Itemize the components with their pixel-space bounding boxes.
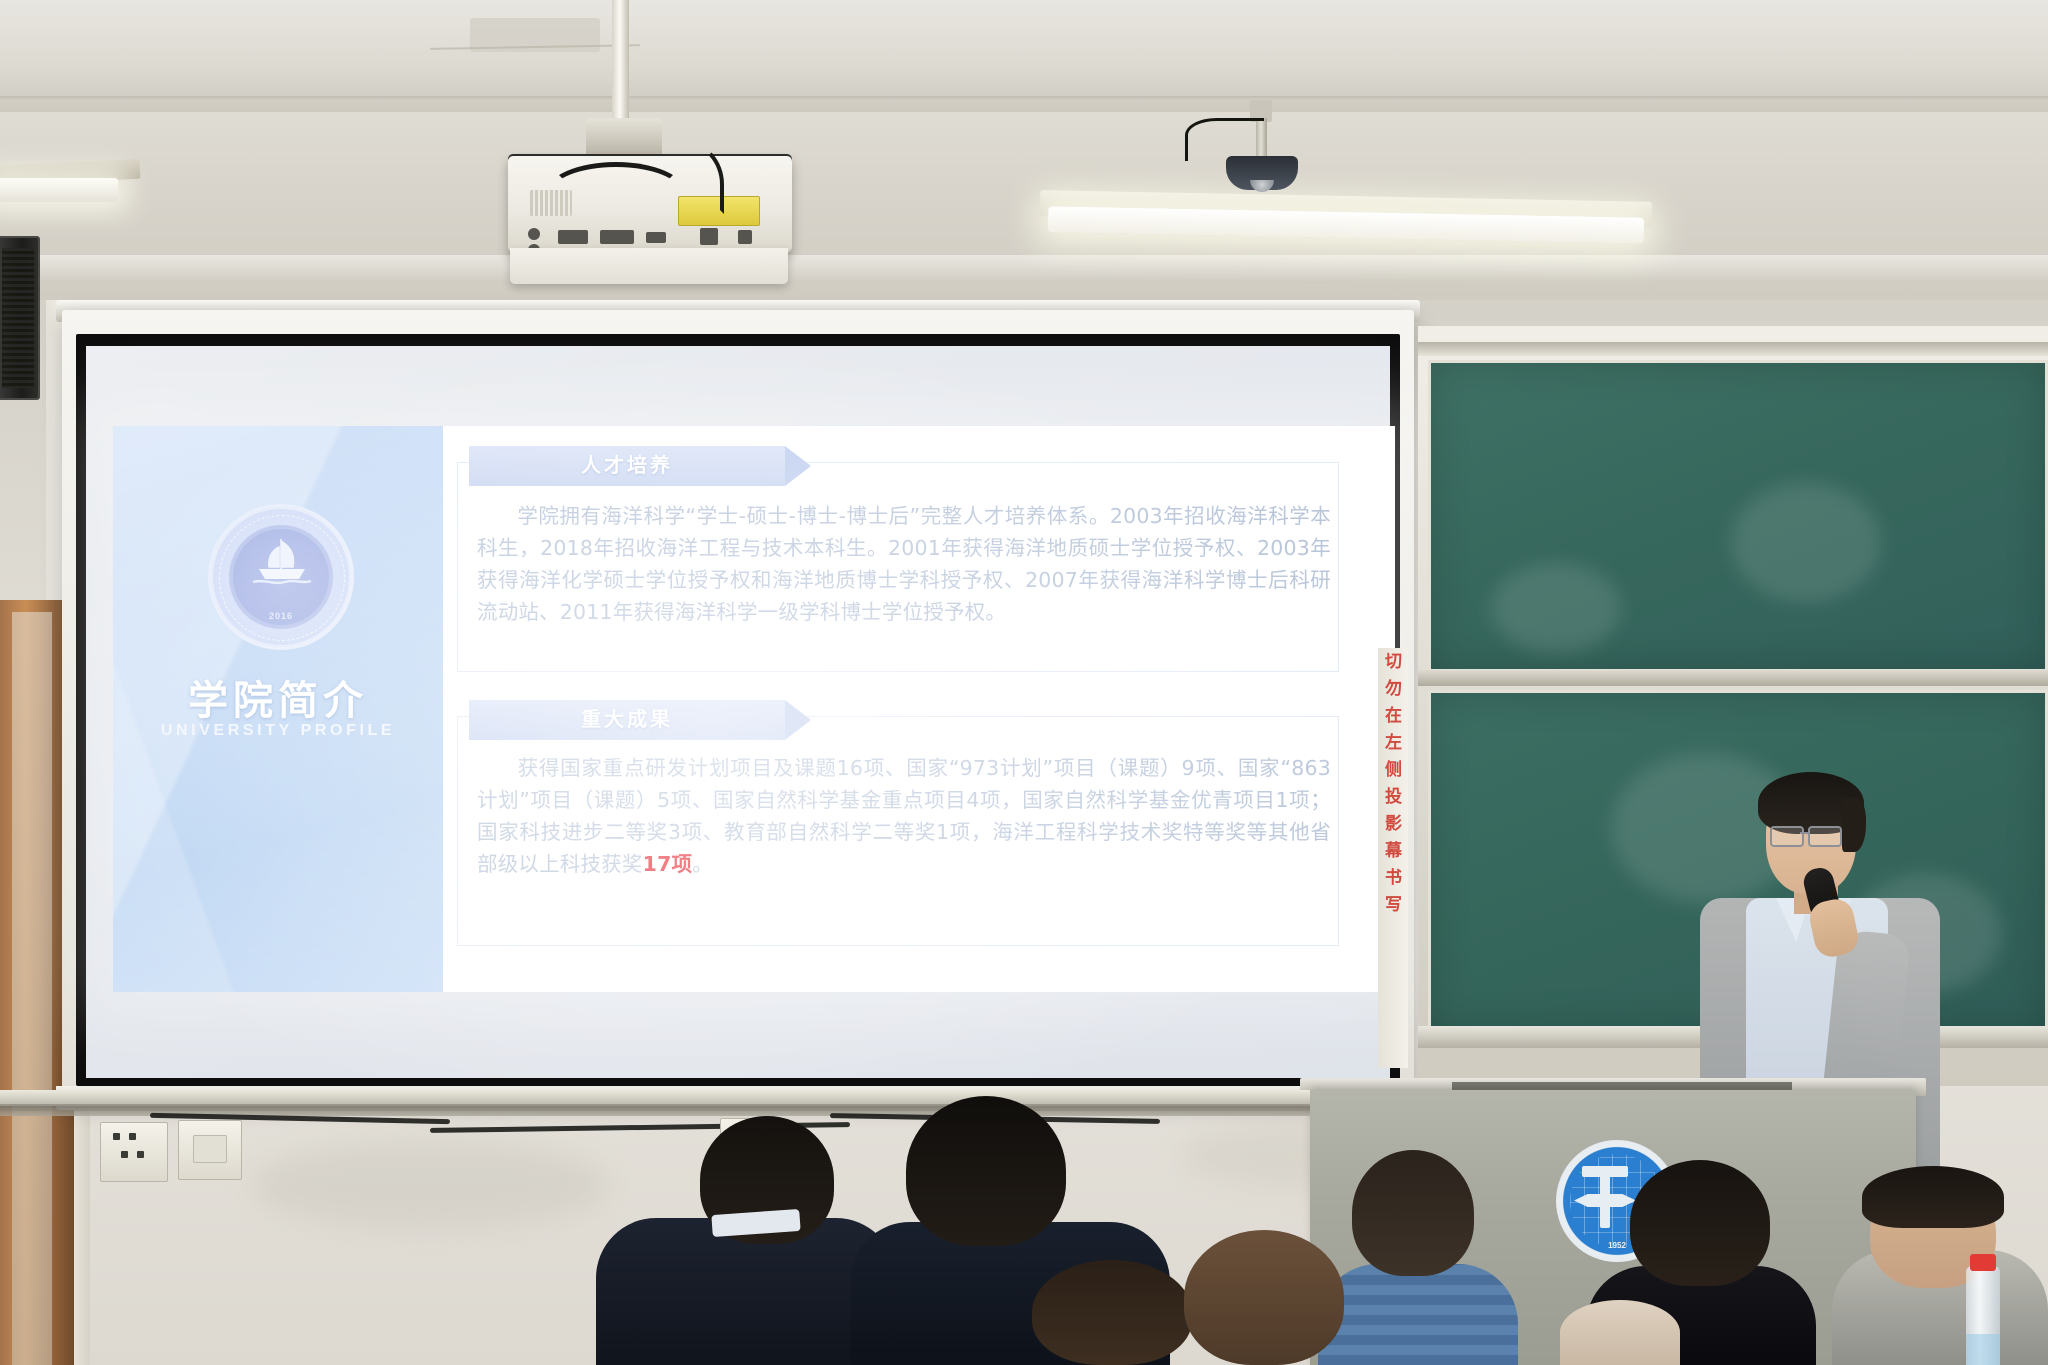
presenter-glasses-bridge xyxy=(1800,832,1808,834)
outlet-socket-hole xyxy=(121,1151,128,1158)
section-body-highlight: 17项 xyxy=(643,852,693,876)
bottle-cap-icon xyxy=(1970,1254,1996,1271)
projection-warning-text: 切勿在左侧投影幕书写 xyxy=(1380,652,1406,922)
switch-rocker[interactable] xyxy=(193,1135,227,1163)
projector-lan-port xyxy=(700,228,718,245)
section-heading-arrow-1 xyxy=(785,446,811,486)
ceiling-seam xyxy=(0,96,2048,101)
presenter-glasses-right-lens xyxy=(1808,826,1842,847)
chalkboard-top-rail xyxy=(1418,342,2048,356)
classroom-presentation-photo: 2016 学院简介 UNIVERSITY PROFILE 人才培养 学院拥有海洋… xyxy=(0,0,2048,1365)
audience-head xyxy=(1630,1160,1770,1286)
chalkboard-panel-upper xyxy=(1428,360,2048,672)
light-switch[interactable] xyxy=(178,1120,242,1180)
camera-cable xyxy=(1185,118,1264,161)
section-heading-2: 重大成果 xyxy=(469,700,785,740)
speaker-grill-icon xyxy=(2,248,34,388)
projector-pole xyxy=(612,0,629,126)
slide-sidebar: 2016 学院简介 UNIVERSITY PROFILE xyxy=(113,426,443,992)
audience-head xyxy=(906,1096,1066,1246)
power-outlet[interactable] xyxy=(100,1122,168,1182)
projector-lens-housing xyxy=(510,248,788,284)
projector-mount xyxy=(586,118,662,156)
section-body-2: 获得国家重点研发计划项目及课题16项、国家“973计划”项目（课题）9项、国家“… xyxy=(477,752,1331,880)
audience-head xyxy=(1352,1150,1474,1276)
outlet-socket-hole xyxy=(113,1133,120,1140)
wall-speaker xyxy=(0,236,40,400)
college-seal-logo: 2016 xyxy=(208,504,354,650)
projected-slide: 2016 学院简介 UNIVERSITY PROFILE 人才培养 学院拥有海洋… xyxy=(113,426,1395,992)
chalk-smudge xyxy=(1491,563,1621,653)
projector-vga-port xyxy=(600,230,634,244)
audience-body-plaid xyxy=(1318,1264,1518,1365)
section-heading-arrow-2 xyxy=(785,700,811,740)
slide-sidebar-title-en: UNIVERSITY PROFILE xyxy=(113,722,443,740)
audience-head xyxy=(1560,1300,1680,1365)
projector-usb-port xyxy=(738,230,752,244)
section-heading-1: 人才培养 xyxy=(469,446,785,486)
wall-beam xyxy=(0,255,2048,283)
door-panel xyxy=(12,612,52,1365)
projector-vga-port xyxy=(558,230,588,244)
chalk-smudge xyxy=(1731,483,1881,603)
audience-head xyxy=(1032,1260,1192,1365)
presenter-glasses-left-lens xyxy=(1770,826,1804,847)
left-fluorescent-lamp xyxy=(0,178,118,202)
chalkboard-middle-rail xyxy=(1418,670,2048,686)
section-body-text-1: 学院拥有海洋科学“学士-硕士-博士-博士后”完整人才培养体系。2003年招收海洋… xyxy=(477,504,1331,624)
section-body-text-2b: 。 xyxy=(692,852,713,876)
wall-stain xyxy=(250,1140,610,1230)
sailing-ship-icon xyxy=(251,535,313,589)
outlet-socket-hole xyxy=(137,1151,144,1158)
section-body-text-2a: 获得国家重点研发计划项目及课题16项、国家“973计划”项目（课题）9项、国家“… xyxy=(477,756,1331,876)
bottle-label xyxy=(1966,1334,2000,1365)
section-heading-bar-1: 人才培养 xyxy=(469,446,785,486)
section-body-1: 学院拥有海洋科学“学士-硕士-博士-博士后”完整人才培养体系。2003年招收海洋… xyxy=(477,500,1331,628)
outlet-socket-hole xyxy=(129,1133,136,1140)
audience-head xyxy=(1184,1230,1344,1365)
seal-year: 2016 xyxy=(211,611,351,621)
presenter-hair-side xyxy=(1842,798,1866,852)
slide-content: 人才培养 学院拥有海洋科学“学士-硕士-博士-博士后”完整人才培养体系。2003… xyxy=(443,426,1395,992)
projector-hdmi-port xyxy=(646,232,666,243)
section-heading-bar-2: 重大成果 xyxy=(469,700,785,740)
projector-port xyxy=(528,228,540,240)
slide-sidebar-title-cn: 学院简介 xyxy=(113,668,443,726)
audience-hair xyxy=(1862,1166,2004,1228)
